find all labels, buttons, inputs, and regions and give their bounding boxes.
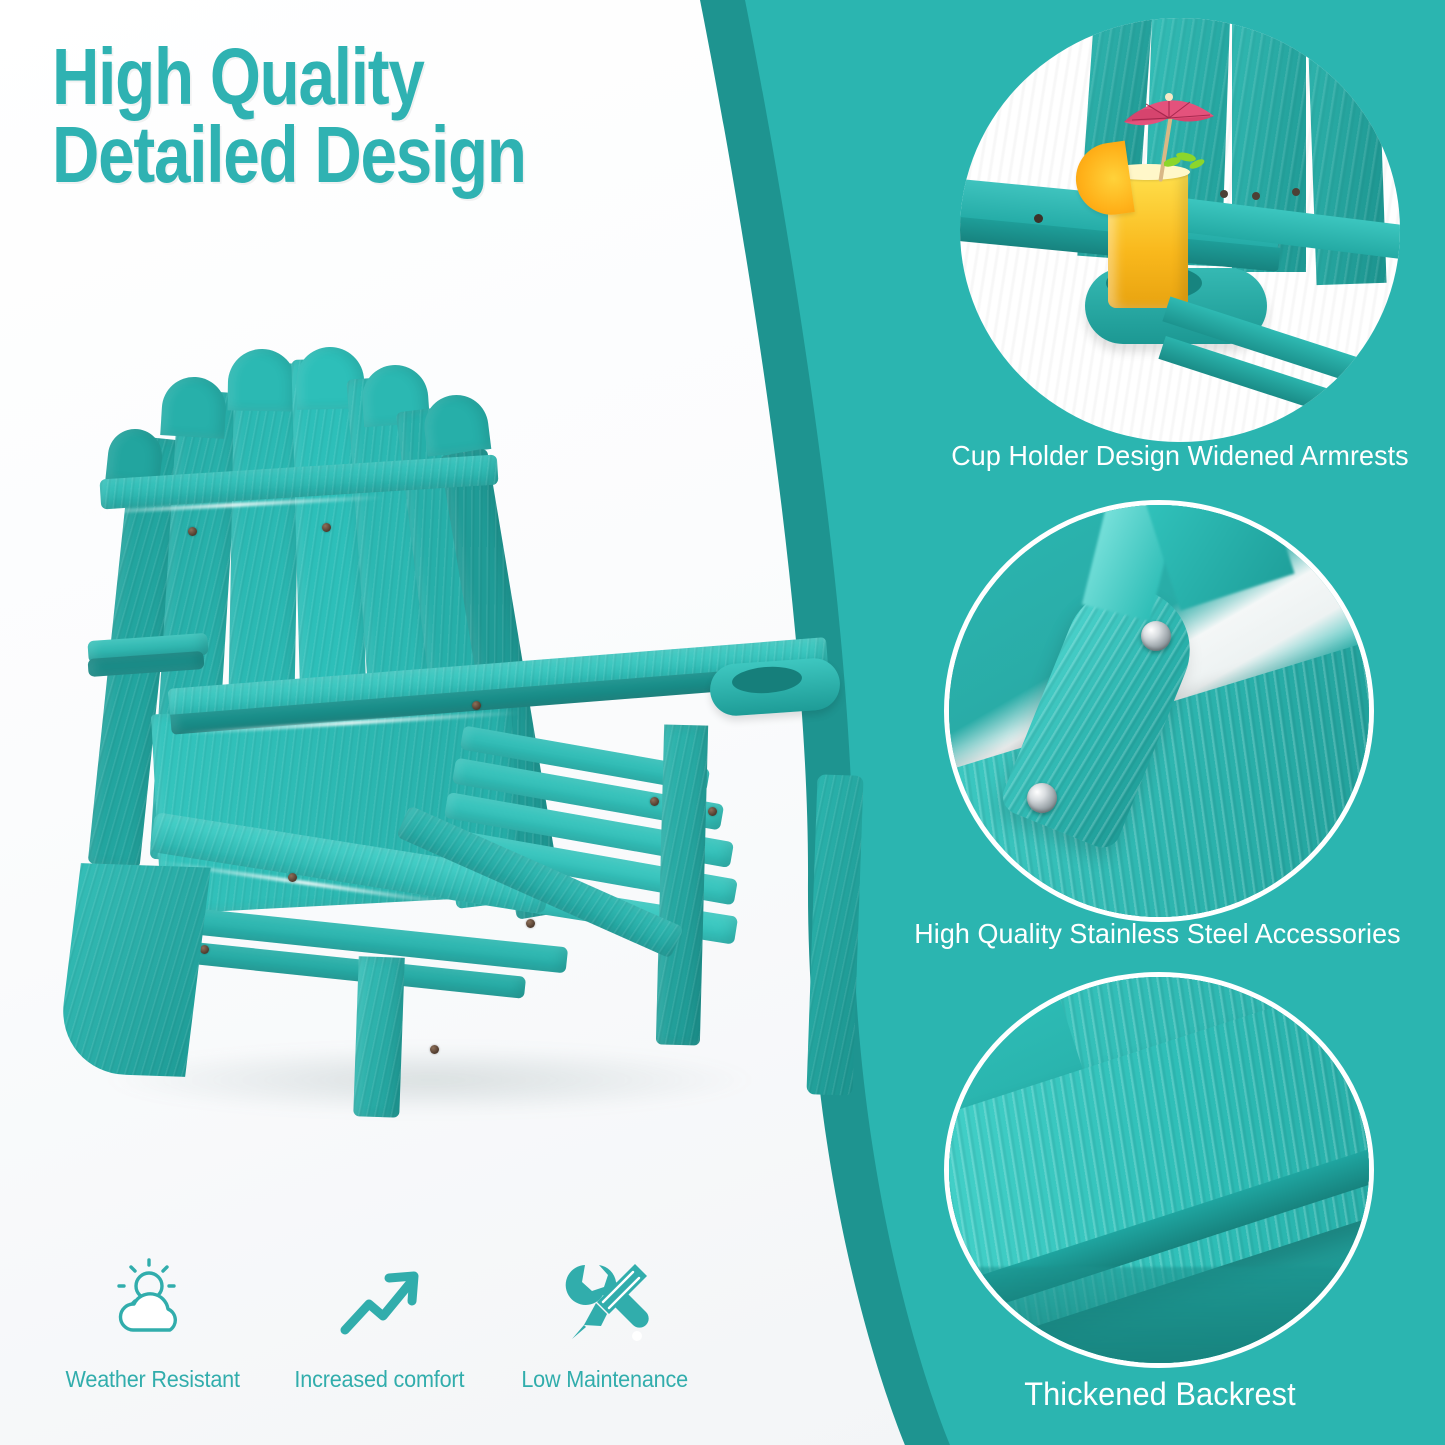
- wrench-screwdriver-icon: [557, 1252, 653, 1356]
- back-slat-top: [227, 348, 296, 411]
- feature-label: Weather Resistant: [66, 1366, 240, 1393]
- detail-image-thickened-backrest: [944, 972, 1374, 1368]
- feature-label: Increased comfort: [294, 1366, 464, 1393]
- detail-caption-cup-holder: Cup Holder Design Widened Armrests: [935, 440, 1425, 472]
- detail-caption-thickened-backrest: Thickened Backrest: [934, 1376, 1385, 1413]
- trend-arrow-up-icon: [331, 1252, 427, 1356]
- title-line-2: Detailed Design: [52, 116, 577, 194]
- main-product-image: [60, 345, 850, 1175]
- mint-garnish-icon: [1164, 148, 1206, 172]
- feature-label: Low Maintenance: [522, 1366, 689, 1393]
- detail-image-stainless-steel: [944, 500, 1374, 922]
- back-slat-top: [421, 391, 492, 456]
- title-line-1: High Quality: [52, 32, 424, 121]
- sun-cloud-icon: [105, 1252, 201, 1356]
- stainless-bolt: [1141, 621, 1171, 651]
- feature-weather-resistant: Weather Resistant: [40, 1252, 266, 1393]
- feature-low-maintenance: Low Maintenance: [492, 1252, 718, 1393]
- stainless-bolt: [1027, 783, 1057, 813]
- page-title: High Quality Detailed Design: [52, 38, 577, 195]
- adirondack-chair: [60, 345, 850, 1175]
- cocktail-umbrella-icon: [1120, 92, 1218, 136]
- left-curved-leg: [55, 863, 211, 1077]
- feature-badge-row: Weather Resistant Increased comfort: [40, 1252, 720, 1422]
- feature-increased-comfort: Increased comfort: [266, 1252, 492, 1393]
- infographic-canvas: High Quality Detailed Design: [0, 0, 1445, 1445]
- floor-shadow: [100, 1045, 760, 1115]
- background-blur: [949, 1267, 1374, 1368]
- detail-image-cup-holder: [960, 18, 1400, 442]
- back-slat-top: [160, 375, 228, 439]
- detail-caption-stainless-steel: High Quality Stainless Steel Accessories: [882, 918, 1434, 950]
- front-leg: [353, 956, 405, 1118]
- rear-leg: [656, 724, 708, 1045]
